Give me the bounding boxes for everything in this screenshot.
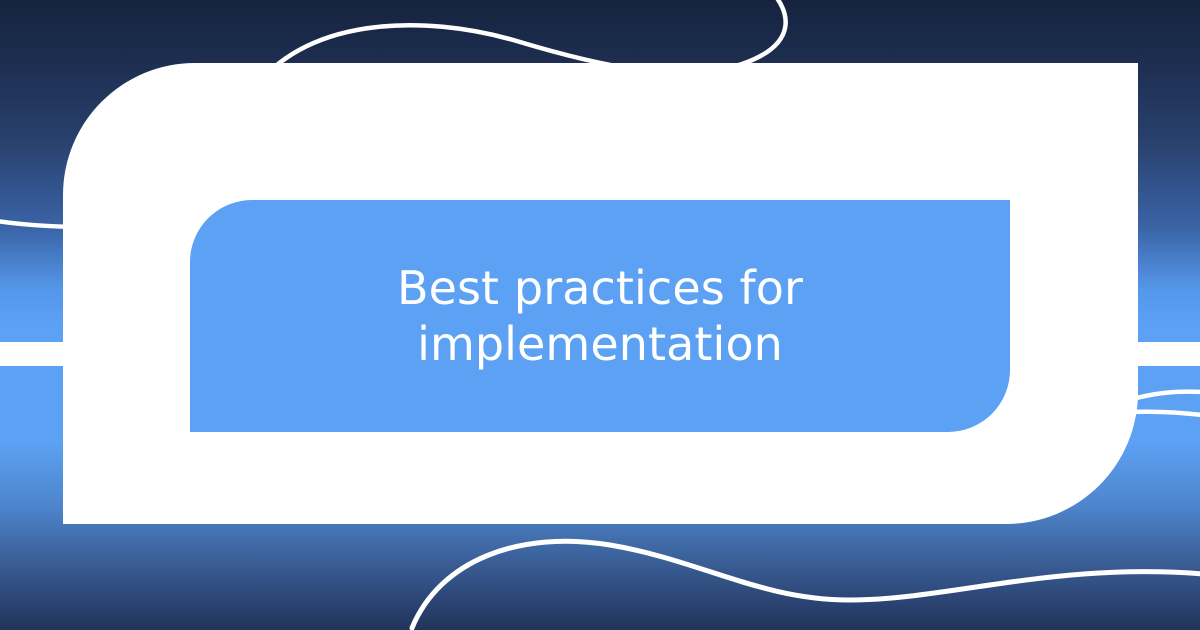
banner-canvas: Best practices for implementation — [0, 0, 1200, 630]
title-panel: Best practices for implementation — [190, 200, 1010, 432]
page-title: Best practices for implementation — [365, 260, 835, 372]
